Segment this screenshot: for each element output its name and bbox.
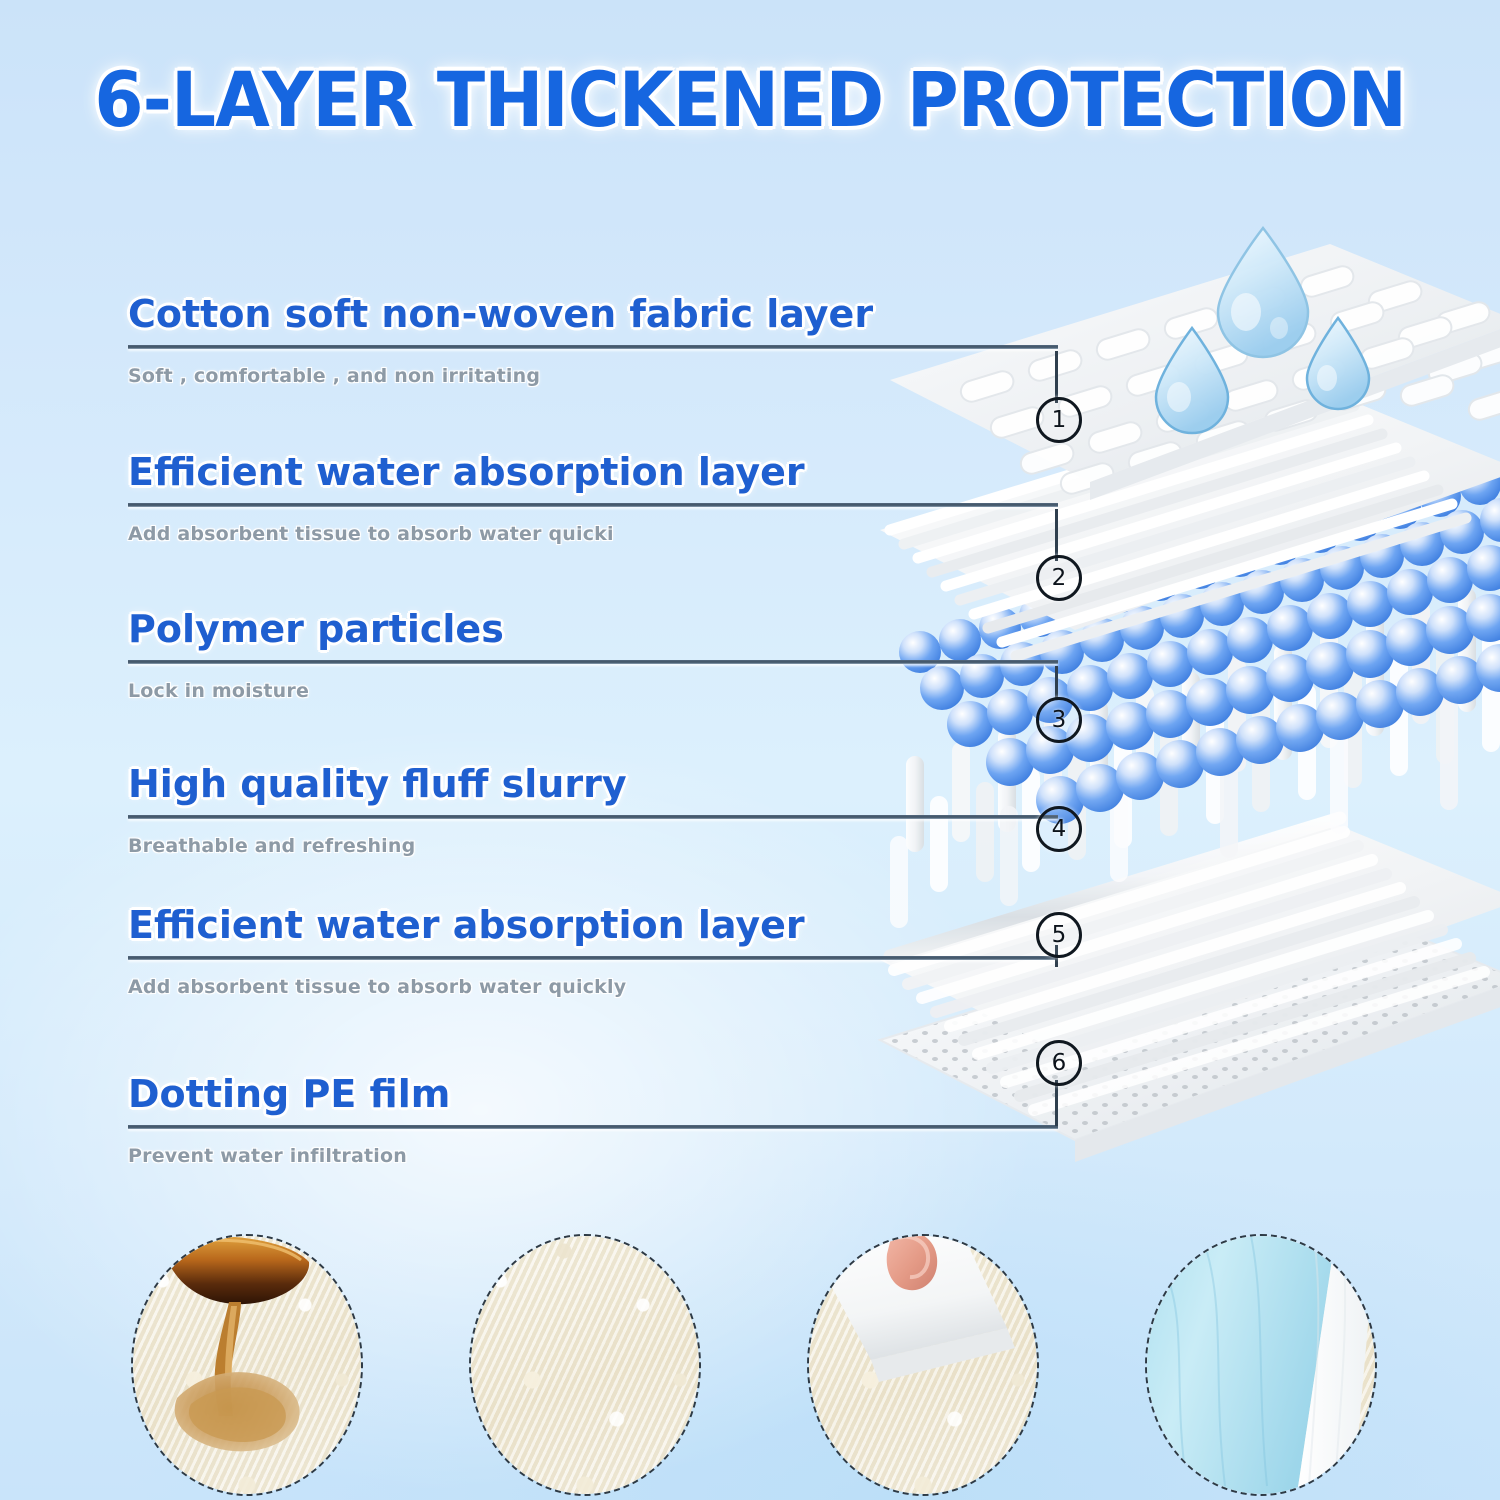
marker-6: 6 bbox=[1036, 1040, 1082, 1086]
layer-row-3: Polymer particles Lock in moisture bbox=[128, 607, 1058, 703]
layer-row-6: Dotting PE film Prevent water infiltrati… bbox=[128, 1072, 1058, 1168]
layer-row-5: Efficient water absorption layer Add abs… bbox=[128, 903, 1058, 999]
marker-5-number: 5 bbox=[1052, 924, 1067, 947]
layer-heading-5: Efficient water absorption layer bbox=[128, 903, 1058, 947]
layer-heading-4: High quality fluff slurry bbox=[128, 762, 1058, 806]
layer-subtext-1: Soft , comfortable , and non irritating bbox=[128, 364, 1058, 388]
marker-3-number: 3 bbox=[1052, 709, 1067, 732]
layer-row-4: High quality fluff slurry Breathable and… bbox=[128, 762, 1058, 858]
layer-rule-5 bbox=[128, 956, 1058, 960]
marker-5: 5 bbox=[1036, 912, 1082, 958]
marker-4-number: 4 bbox=[1052, 818, 1067, 841]
layer-rule-4 bbox=[128, 815, 1058, 819]
layer-subtext-3: Lock in moisture bbox=[128, 679, 1058, 703]
leader-line-2 bbox=[1055, 509, 1058, 561]
leader-line-6 bbox=[1055, 1080, 1058, 1126]
photo-fluff-texture bbox=[469, 1234, 701, 1496]
marker-2-number: 2 bbox=[1052, 567, 1067, 590]
layer-heading-3: Polymer particles bbox=[128, 607, 1058, 651]
blue-sheet-art bbox=[1147, 1236, 1375, 1494]
layer-subtext-6: Prevent water infiltration bbox=[128, 1144, 1058, 1168]
marker-1-number: 1 bbox=[1052, 409, 1067, 432]
photo-finger-press-test-image bbox=[809, 1236, 1037, 1494]
marker-6-number: 6 bbox=[1052, 1052, 1067, 1075]
layer-row-1: Cotton soft non-woven fabric layer Soft … bbox=[128, 292, 1058, 388]
layer-subtext-4: Breathable and refreshing bbox=[128, 834, 1058, 858]
product-infographic: 6-LAYER THICKENED PROTECTION bbox=[0, 0, 1500, 1500]
layer-subtext-2: Add absorbent tissue to absorb water qui… bbox=[128, 522, 1058, 546]
layer-rule-2 bbox=[128, 503, 1058, 507]
layer-heading-1: Cotton soft non-woven fabric layer bbox=[128, 292, 1058, 336]
marker-1: 1 bbox=[1036, 397, 1082, 443]
photo-liquid-absorption bbox=[131, 1234, 363, 1496]
layer-heading-2: Efficient water absorption layer bbox=[128, 450, 1058, 494]
layer-rule-6 bbox=[128, 1125, 1058, 1129]
layer-heading-6: Dotting PE film bbox=[128, 1072, 1058, 1116]
leader-line-1 bbox=[1055, 351, 1058, 403]
photo-blue-backing-layer bbox=[1145, 1234, 1377, 1496]
finger-press-art bbox=[809, 1236, 1037, 1494]
photo-strip bbox=[0, 1232, 1500, 1500]
leader-line-3 bbox=[1055, 666, 1058, 700]
layer-row-2: Efficient water absorption layer Add abs… bbox=[128, 450, 1058, 546]
photo-liquid-absorption-image bbox=[133, 1236, 361, 1494]
photo-blue-backing-layer-image bbox=[1147, 1236, 1375, 1494]
marker-3: 3 bbox=[1036, 697, 1082, 743]
liquid-pour-art bbox=[133, 1236, 361, 1494]
layer-rule-1 bbox=[128, 345, 1058, 349]
layer-subtext-5: Add absorbent tissue to absorb water qui… bbox=[128, 975, 1058, 999]
photo-fluff-texture-image bbox=[471, 1236, 699, 1494]
photo-finger-press-test bbox=[807, 1234, 1039, 1496]
layer-rule-3 bbox=[128, 660, 1058, 664]
fluff-texture bbox=[471, 1236, 699, 1494]
water-drop-large bbox=[1218, 228, 1308, 357]
marker-2: 2 bbox=[1036, 555, 1082, 601]
marker-4: 4 bbox=[1036, 806, 1082, 852]
